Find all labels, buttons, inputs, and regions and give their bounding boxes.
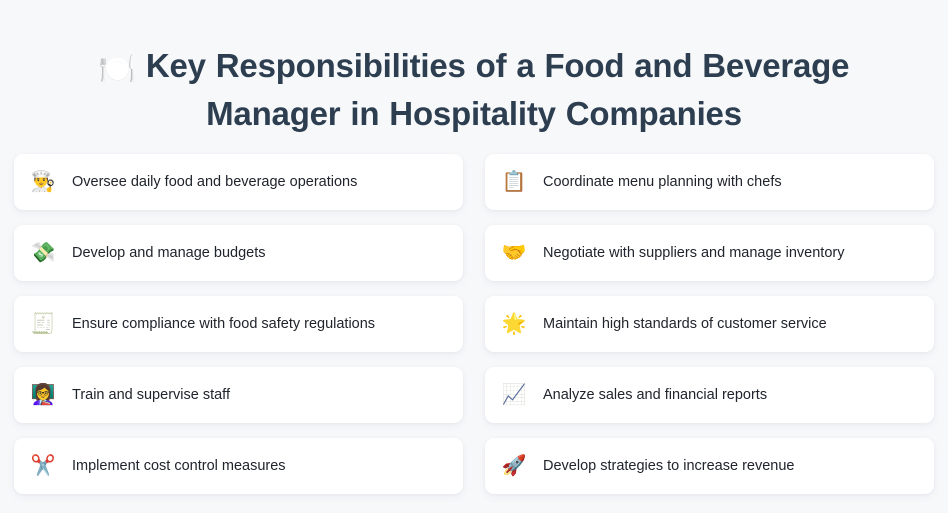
teacher-icon: 👩‍🏫 xyxy=(30,382,56,408)
responsibility-card-label: Train and supervise staff xyxy=(72,385,447,405)
responsibility-card-label: Analyze sales and financial reports xyxy=(543,385,918,405)
rocket-icon: 🚀 xyxy=(501,453,527,479)
responsibility-card[interactable]: 🌟Maintain high standards of customer ser… xyxy=(485,296,934,352)
clipboard-icon: 📋 xyxy=(501,169,527,195)
responsibility-card[interactable]: 💸Develop and manage budgets xyxy=(14,225,463,281)
responsibility-card[interactable]: 🤝Negotiate with suppliers and manage inv… xyxy=(485,225,934,281)
handshake-icon: 🤝 xyxy=(501,240,527,266)
infographic-page: 🍽️Key Responsibilities of a Food and Bev… xyxy=(0,0,948,513)
glowing-star-icon: 🌟 xyxy=(501,311,527,337)
fork-knife-plate-icon: 🍽️ xyxy=(99,53,136,86)
responsibility-card-grid: 👨‍🍳Oversee daily food and beverage opera… xyxy=(0,154,948,508)
page-title-text: Key Responsibilities of a Food and Bever… xyxy=(146,47,849,132)
responsibility-card-label: Negotiate with suppliers and manage inve… xyxy=(543,243,918,263)
chart-increasing-icon: 📈 xyxy=(501,382,527,408)
responsibility-card[interactable]: 🧾Ensure compliance with food safety regu… xyxy=(14,296,463,352)
responsibility-card-label: Coordinate menu planning with chefs xyxy=(543,172,918,192)
money-with-wings-icon: 💸 xyxy=(30,240,56,266)
responsibility-card-label: Develop and manage budgets xyxy=(72,243,447,263)
page-title: 🍽️Key Responsibilities of a Food and Bev… xyxy=(60,44,888,136)
responsibility-card[interactable]: 👨‍🍳Oversee daily food and beverage opera… xyxy=(14,154,463,210)
responsibility-card[interactable]: ✂️Implement cost control measures xyxy=(14,438,463,494)
responsibility-card-label: Maintain high standards of customer serv… xyxy=(543,314,918,334)
responsibility-card[interactable]: 📈Analyze sales and financial reports xyxy=(485,367,934,423)
responsibility-card[interactable]: 👩‍🏫Train and supervise staff xyxy=(14,367,463,423)
chef-icon: 👨‍🍳 xyxy=(30,169,56,195)
responsibility-card-label: Ensure compliance with food safety regul… xyxy=(72,314,447,334)
receipt-icon: 🧾 xyxy=(30,311,56,337)
responsibility-card-label: Develop strategies to increase revenue xyxy=(543,456,918,476)
responsibility-card-label: Oversee daily food and beverage operatio… xyxy=(72,172,447,192)
responsibility-card-label: Implement cost control measures xyxy=(72,456,447,476)
title-block: 🍽️Key Responsibilities of a Food and Bev… xyxy=(0,0,948,136)
responsibility-card[interactable]: 📋Coordinate menu planning with chefs xyxy=(485,154,934,210)
scissors-icon: ✂️ xyxy=(30,453,56,479)
responsibility-card[interactable]: 🚀Develop strategies to increase revenue xyxy=(485,438,934,494)
